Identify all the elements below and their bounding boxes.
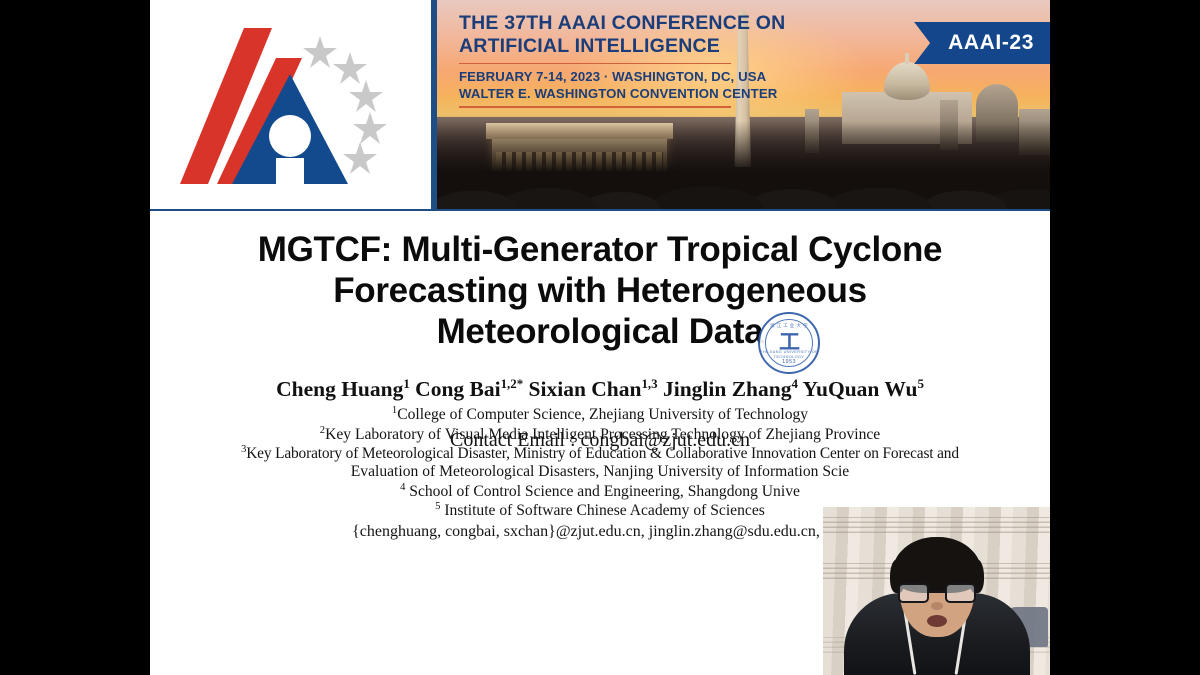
banner-text-block: THE 37TH AAAI CONFERENCE ON ARTIFICIAL I… xyxy=(459,12,789,108)
author-name: Cong Bai xyxy=(415,377,500,401)
affiliation-text: School of Control Science and Engineerin… xyxy=(405,483,800,500)
glasses-lens-left xyxy=(898,583,929,603)
conference-banner-image: THE 37TH AAAI CONFERENCE ON ARTIFICIAL I… xyxy=(437,0,1050,209)
affiliation-item: 4 School of Control Science and Engineer… xyxy=(150,482,1050,502)
author-affiliation-marker: 1 xyxy=(403,377,409,391)
author-entry: Cheng Huang1 xyxy=(276,377,410,401)
contact-email-line: Contact Email : congbai@zjut.edu.cn xyxy=(150,429,1050,452)
ribbon-label: AAAI-23 xyxy=(948,31,1034,55)
paper-title: MGTCF: Multi-Generator Tropical Cyclone … xyxy=(150,230,1050,353)
university-seal-icon: 浙 江 工 业 大 学 工 1953 ZHEJIANG UNIVERSITY O… xyxy=(758,312,820,374)
author-name: YuQuan Wu xyxy=(802,377,917,401)
banner-venue: WALTER E. WASHINGTON CONVENTION CENTER xyxy=(459,86,789,103)
seal-year: 1953 xyxy=(782,359,796,365)
affiliation-text: Institute of Software Chinese Academy of… xyxy=(440,503,764,520)
author-list: Cheng Huang1 Cong Bai1,2* Sixian Chan1,3… xyxy=(150,377,1050,402)
author-entry: Jinglin Zhang4 xyxy=(663,377,798,401)
affiliation-text: College of Computer Science, Zhejiang Un… xyxy=(397,406,808,423)
paper-title-line-1: MGTCF: Multi-Generator Tropical Cyclone xyxy=(158,230,1042,271)
presenter-nose xyxy=(931,602,943,610)
paper-title-line-2: Forecasting with Heterogeneous xyxy=(158,271,1042,312)
glasses-bridge xyxy=(929,591,945,593)
banner-date-location: FEBRUARY 7-14, 2023 · WASHINGTON, DC, US… xyxy=(459,69,789,86)
aaai-logo-icon xyxy=(172,16,422,196)
aaai-23-ribbon-badge: AAAI-23 xyxy=(914,22,1050,64)
banner-title-line1: THE 37TH AAAI CONFERENCE ON xyxy=(459,12,789,35)
author-name: Cheng Huang xyxy=(276,377,403,401)
banner-rule-bottom xyxy=(459,106,731,108)
banner-rule-top xyxy=(459,63,731,65)
author-entry: Sixian Chan1,3 xyxy=(529,377,658,401)
affiliation-item-continued: Evaluation of Meteorological Disasters, … xyxy=(150,463,1050,481)
aaai-logo-panel xyxy=(150,0,432,209)
curtain-pleat-band xyxy=(823,517,1050,533)
author-name: Jinglin Zhang xyxy=(663,377,791,401)
author-affiliation-marker: 5 xyxy=(917,377,923,391)
treeline xyxy=(437,121,1050,209)
paper-title-line-3: Meteorological Data xyxy=(158,312,1042,353)
presenter-glasses-icon xyxy=(898,583,976,603)
author-entry: Cong Bai1,2* xyxy=(415,377,523,401)
glasses-lens-right xyxy=(945,583,976,603)
header-bottom-rule xyxy=(150,209,1050,211)
author-name: Sixian Chan xyxy=(529,377,642,401)
banner-title-line2: ARTIFICIAL INTELLIGENCE xyxy=(459,35,789,58)
affiliation-text: Evaluation of Meteorological Disasters, … xyxy=(351,463,849,480)
seal-bottom-text: ZHEJIANG UNIVERSITY OF TECHNOLOGY xyxy=(760,349,818,359)
presenter-mouth xyxy=(927,615,947,627)
author-affiliation-marker: 1,3 xyxy=(641,377,657,391)
slide-header: THE 37TH AAAI CONFERENCE ON ARTIFICIAL I… xyxy=(150,0,1050,211)
capitol-dome xyxy=(884,62,930,100)
author-affiliation-marker: 4 xyxy=(791,377,797,391)
author-entry: YuQuan Wu5 xyxy=(802,377,923,401)
presentation-viewer: THE 37TH AAAI CONFERENCE ON ARTIFICIAL I… xyxy=(0,0,1200,675)
author-affiliation-marker: 1,2* xyxy=(501,377,524,391)
affiliation-item: 1College of Computer Science, Zhejiang U… xyxy=(150,405,1050,425)
presenter-webcam-video[interactable] xyxy=(823,507,1050,675)
